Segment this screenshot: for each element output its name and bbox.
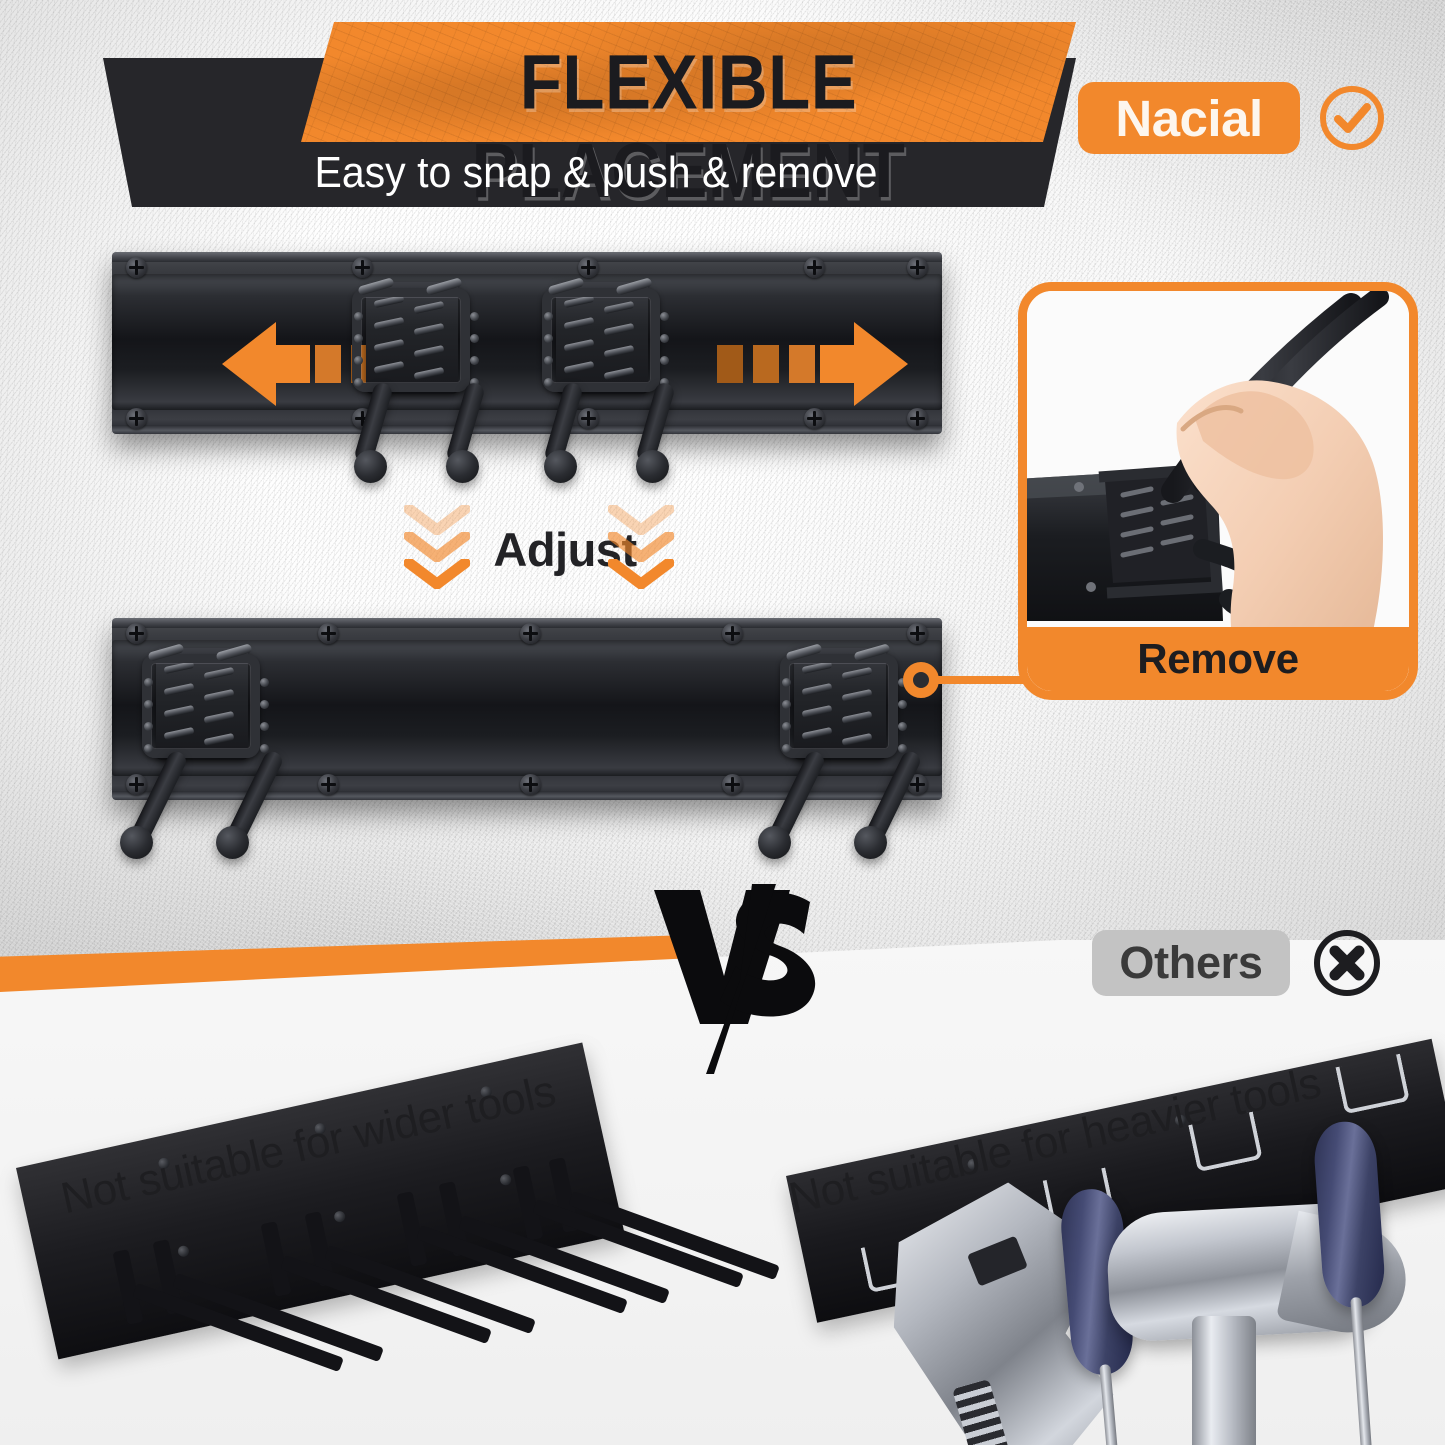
- chevron-down-icon: [608, 505, 674, 535]
- screw: [907, 408, 928, 429]
- screw: [520, 623, 541, 644]
- screw: [804, 408, 825, 429]
- hook-prong-tip: [758, 826, 791, 859]
- hook-prong-tip: [354, 450, 387, 483]
- remove-label: Remove: [1137, 635, 1299, 683]
- others-label: Others: [1119, 937, 1262, 989]
- hook-rail-two-left[interactable]: [142, 648, 282, 868]
- chevron-down-icon: [608, 559, 674, 589]
- screw: [578, 257, 599, 278]
- screw: [126, 408, 147, 429]
- chevron-down-icon: [404, 559, 470, 589]
- screw: [804, 257, 825, 278]
- page-subtitle: Easy to snap & push & remove: [156, 148, 1036, 198]
- others-badge: Others: [1092, 930, 1290, 996]
- screw: [907, 257, 928, 278]
- hook-rail-one-a[interactable]: [352, 282, 492, 502]
- screw: [318, 623, 339, 644]
- hook-rail-one-b[interactable]: [542, 282, 682, 502]
- brand-name: Nacial: [1115, 89, 1262, 148]
- screw: [520, 774, 541, 795]
- circle-x-icon: [1312, 928, 1382, 998]
- arrow-right-icon: [712, 322, 908, 406]
- screw: [318, 774, 339, 795]
- inset-caption-bar: Remove: [1027, 627, 1409, 691]
- vs-logo: [648, 884, 828, 1074]
- callout-connector-dot: [903, 662, 939, 698]
- infographic-stage: FLEXIBLE PLACEMENT Easy to snap & push &…: [0, 0, 1445, 1445]
- hook-prong-tip: [120, 826, 153, 859]
- chevron-down-icon: [608, 532, 674, 562]
- hook-prong-tip: [216, 826, 249, 859]
- chevron-down-group-left: [404, 505, 470, 597]
- brand-badge: Nacial: [1078, 82, 1300, 154]
- chevron-down-icon: [404, 505, 470, 535]
- screw: [907, 623, 928, 644]
- hook-prong-tip: [636, 450, 669, 483]
- hook-prong-tip: [446, 450, 479, 483]
- remove-inset-panel: Remove: [1018, 282, 1418, 700]
- hook-prong-tip: [544, 450, 577, 483]
- header-banner: FLEXIBLE PLACEMENT Easy to snap & push &…: [96, 22, 1076, 207]
- screw: [126, 257, 147, 278]
- circle-check-icon: [1318, 84, 1386, 152]
- screw: [126, 623, 147, 644]
- chevron-down-group-right: [608, 505, 674, 597]
- screw: [722, 623, 743, 644]
- callout-connector-line: [925, 676, 1029, 684]
- hook-prong-tip: [854, 826, 887, 859]
- hook-rail-two-right[interactable]: [780, 648, 920, 868]
- screw: [352, 257, 373, 278]
- chevron-down-icon: [404, 532, 470, 562]
- screw: [722, 774, 743, 795]
